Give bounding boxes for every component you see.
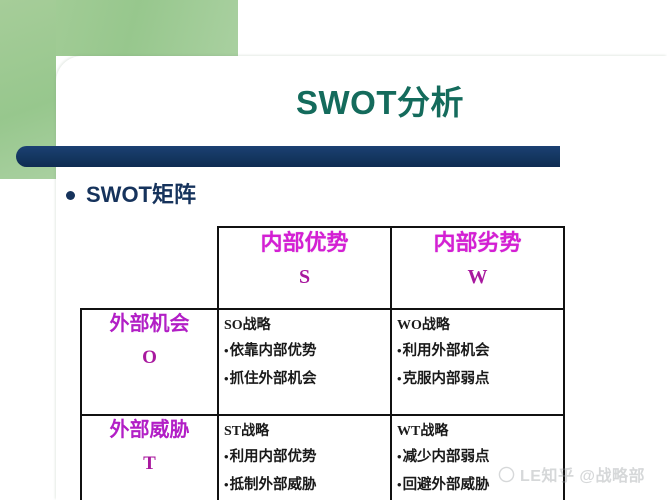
cell-so-item-2: •抓住外部机会 — [224, 365, 390, 393]
column-header-strengths-letter: S — [219, 262, 390, 292]
column-header-strengths: 内部优势 S — [218, 227, 391, 309]
cell-wo-title: WO战略 — [397, 315, 563, 337]
cell-wo-item-2-label: 克服内部弱点 — [403, 371, 490, 387]
cell-wo-item-1: •利用外部机会 — [397, 337, 563, 365]
table-row: 外部威胁 T ST战略 •利用内部优势 •抵制外部威胁 WT战略 •减少内部弱点… — [81, 415, 564, 500]
list-bullet-icon: • — [397, 343, 402, 358]
row-header-threats-letter: T — [82, 450, 217, 478]
bullet-dot-icon — [66, 191, 75, 200]
row-header-opportunities: 外部机会 O — [81, 309, 218, 415]
row-header-threats-label: 外部威胁 — [82, 416, 217, 444]
cell-wt-item-1-label: 减少内部弱点 — [403, 449, 490, 465]
column-header-weaknesses: 内部劣势 W — [391, 227, 564, 309]
cell-wo-item-2: •克服内部弱点 — [397, 365, 563, 393]
cell-st-title: ST战略 — [224, 421, 390, 443]
title-divider-bar — [16, 146, 560, 167]
slide-canvas: SWOT分析 SWOT矩阵 内部优势 S 内部劣势 W 外部机会 O SO战略 — [0, 0, 667, 500]
row-header-opportunities-letter: O — [82, 344, 217, 372]
cell-so-title: SO战略 — [224, 315, 390, 337]
list-bullet-icon: • — [224, 477, 229, 492]
cell-wo-strategy: WO战略 •利用外部机会 •克服内部弱点 — [391, 309, 564, 415]
column-header-weaknesses-letter: W — [392, 262, 563, 292]
cell-so-item-2-label: 抓住外部机会 — [230, 371, 317, 387]
cell-wt-title: WT战略 — [397, 421, 563, 443]
row-header-opportunities-label: 外部机会 — [82, 310, 217, 338]
bullet-item-label: SWOT矩阵 — [86, 182, 196, 208]
table-row: 外部机会 O SO战略 •依靠内部优势 •抓住外部机会 WO战略 •利用外部机会… — [81, 309, 564, 415]
cell-so-item-1-label: 依靠内部优势 — [230, 343, 317, 359]
cell-st-item-1-label: 利用内部优势 — [230, 449, 317, 465]
list-bullet-icon: • — [397, 371, 402, 386]
cell-wt-item-2-label: 回避外部威胁 — [403, 477, 490, 493]
cell-wt-item-2: •回避外部威胁 — [397, 471, 563, 499]
list-bullet-icon: • — [397, 449, 402, 464]
cell-st-item-2-label: 抵制外部威胁 — [230, 477, 317, 493]
cell-wt-strategy: WT战略 •减少内部弱点 •回避外部威胁 — [391, 415, 564, 500]
cell-wt-item-1: •减少内部弱点 — [397, 443, 563, 471]
cell-st-strategy: ST战略 •利用内部优势 •抵制外部威胁 — [218, 415, 391, 500]
cell-so-strategy: SO战略 •依靠内部优势 •抓住外部机会 — [218, 309, 391, 415]
list-bullet-icon: • — [397, 477, 402, 492]
column-header-strengths-label: 内部优势 — [219, 228, 390, 258]
cell-wo-item-1-label: 利用外部机会 — [403, 343, 490, 359]
list-bullet-icon: • — [224, 371, 229, 386]
cell-st-item-1: •利用内部优势 — [224, 443, 390, 471]
swot-matrix-table: 内部优势 S 内部劣势 W 外部机会 O SO战略 •依靠内部优势 •抓住外部机… — [80, 226, 565, 500]
page-title: SWOT分析 — [150, 83, 610, 123]
list-bullet-icon: • — [224, 449, 229, 464]
cell-st-item-2: •抵制外部威胁 — [224, 471, 390, 499]
cell-so-item-1: •依靠内部优势 — [224, 337, 390, 365]
row-header-threats: 外部威胁 T — [81, 415, 218, 500]
list-bullet-icon: • — [224, 343, 229, 358]
column-header-weaknesses-label: 内部劣势 — [392, 228, 563, 258]
table-header-row: 内部优势 S 内部劣势 W — [81, 227, 564, 309]
matrix-corner-blank — [81, 227, 218, 309]
bullet-item-swot-matrix: SWOT矩阵 — [66, 182, 196, 208]
